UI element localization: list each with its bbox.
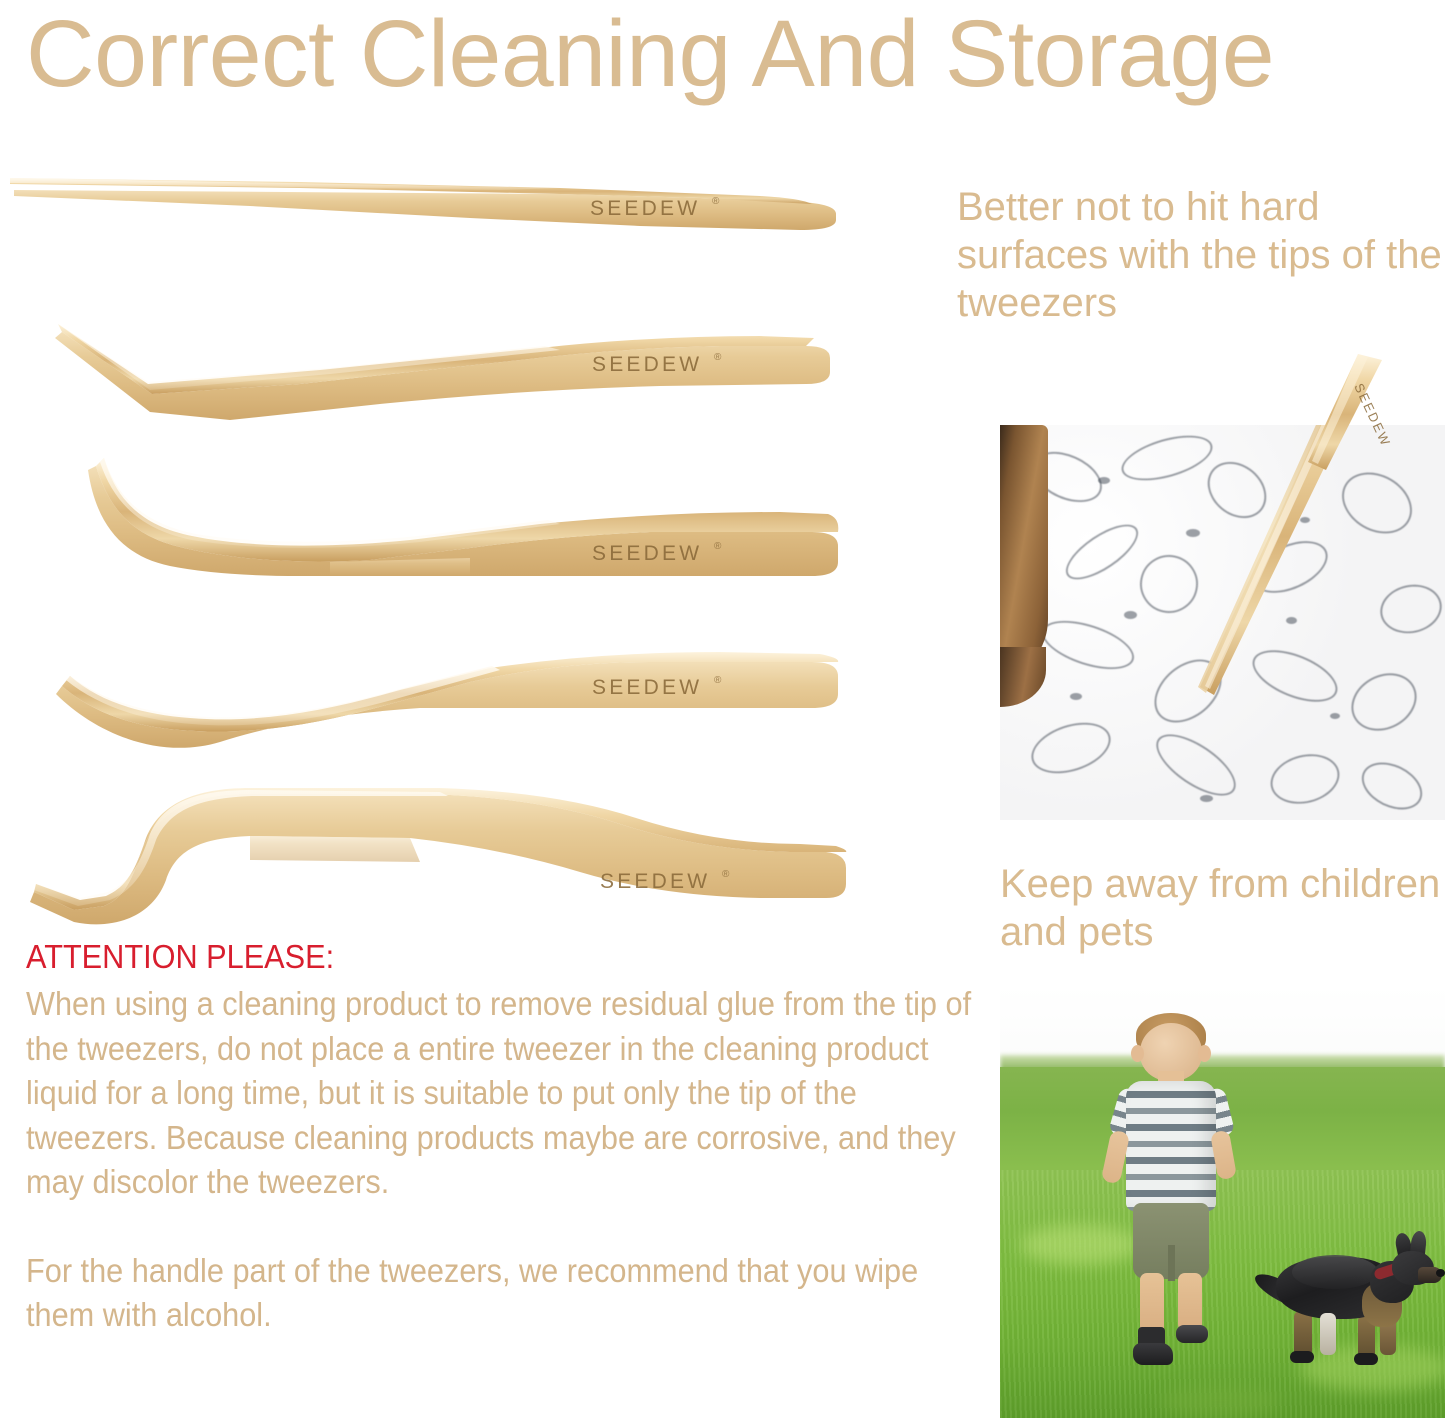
attention-paragraph-1: When using a cleaning product to remove … <box>26 982 975 1205</box>
tweezer-highlight <box>10 178 560 190</box>
attention-heading: ATTENTION PLEASE: <box>26 938 910 976</box>
tweezer-straight-fine-point: SEEDEW ® <box>0 168 960 238</box>
marble-surface-photo <box>1000 425 1445 820</box>
toddler-figure <box>1100 1005 1240 1365</box>
tweezer-brand-registered: ® <box>722 869 730 880</box>
attention-body: When using a cleaning product to remove … <box>26 982 975 1338</box>
tweezer-brand-registered: ® <box>714 675 722 686</box>
tweezer-brand-label: SEEDEW <box>592 542 702 565</box>
tweezer-brand-label: SEEDEW <box>590 197 700 220</box>
tweezer-brand-label: SEEDEW <box>592 676 702 699</box>
dog-paw-front <box>1354 1353 1378 1365</box>
tweezer-brand-registered: ® <box>712 196 720 207</box>
toddler-ear-left <box>1131 1045 1144 1062</box>
attention-block: ATTENTION PLEASE: When using a cleaning … <box>26 938 976 1338</box>
tweezer-gallery: SEEDEW ® SEEDEW ® SEEDEW ® SEEDEW <box>0 150 960 930</box>
tweezer-brand-label: SEEDEW <box>592 353 702 376</box>
toddler-shoe-right <box>1176 1325 1208 1343</box>
dog-leg-rear-near <box>1320 1313 1336 1355</box>
tweezer-angled-bent-tip: SEEDEW ® <box>0 312 960 422</box>
toddler-ear-right <box>1198 1045 1211 1062</box>
tweezer-lower-arm <box>30 794 846 924</box>
dog-nose <box>1436 1269 1445 1277</box>
child-and-dog-photo <box>1000 985 1445 1418</box>
attention-paragraph-2: For the handle part of the tweezers, we … <box>26 1249 975 1338</box>
tweezer-curved-slim-tip: SEEDEW ® <box>0 650 960 770</box>
tweezer-brand-label: SEEDEW <box>600 870 710 893</box>
dog-saddle-marking <box>1292 1255 1378 1289</box>
dog-paw-rear <box>1290 1351 1314 1363</box>
tweezer-brand-registered: ® <box>714 352 722 363</box>
toddler-shoe-left <box>1133 1343 1173 1365</box>
toddler-leg-right <box>1178 1273 1202 1331</box>
german-shepherd-puppy <box>1258 1225 1438 1385</box>
marble-tweezer <box>1000 425 1445 820</box>
tip-headline-hard-surfaces: Better not to hit hard surfaces with the… <box>957 183 1445 327</box>
tip-headline-children-pets: Keep away from children and pets <box>1000 860 1445 956</box>
marble-tweezer-upper-shaft: SEEDEW <box>1280 352 1445 472</box>
tweezer-curved-hook-tip: SEEDEW ® <box>0 448 960 598</box>
page-title: Correct Cleaning And Storage <box>26 4 1436 104</box>
marble-tweezer-brand-label: SEEDEW <box>1351 381 1393 449</box>
toddler-leg-left <box>1140 1273 1164 1335</box>
tweezer-brand-registered: ® <box>714 541 722 552</box>
tweezer-step <box>250 836 420 862</box>
toddler-striped-shirt <box>1126 1081 1216 1211</box>
tweezer-boot-shape-tip: SEEDEW ® <box>0 788 960 930</box>
toddler-shorts-split <box>1168 1245 1175 1281</box>
